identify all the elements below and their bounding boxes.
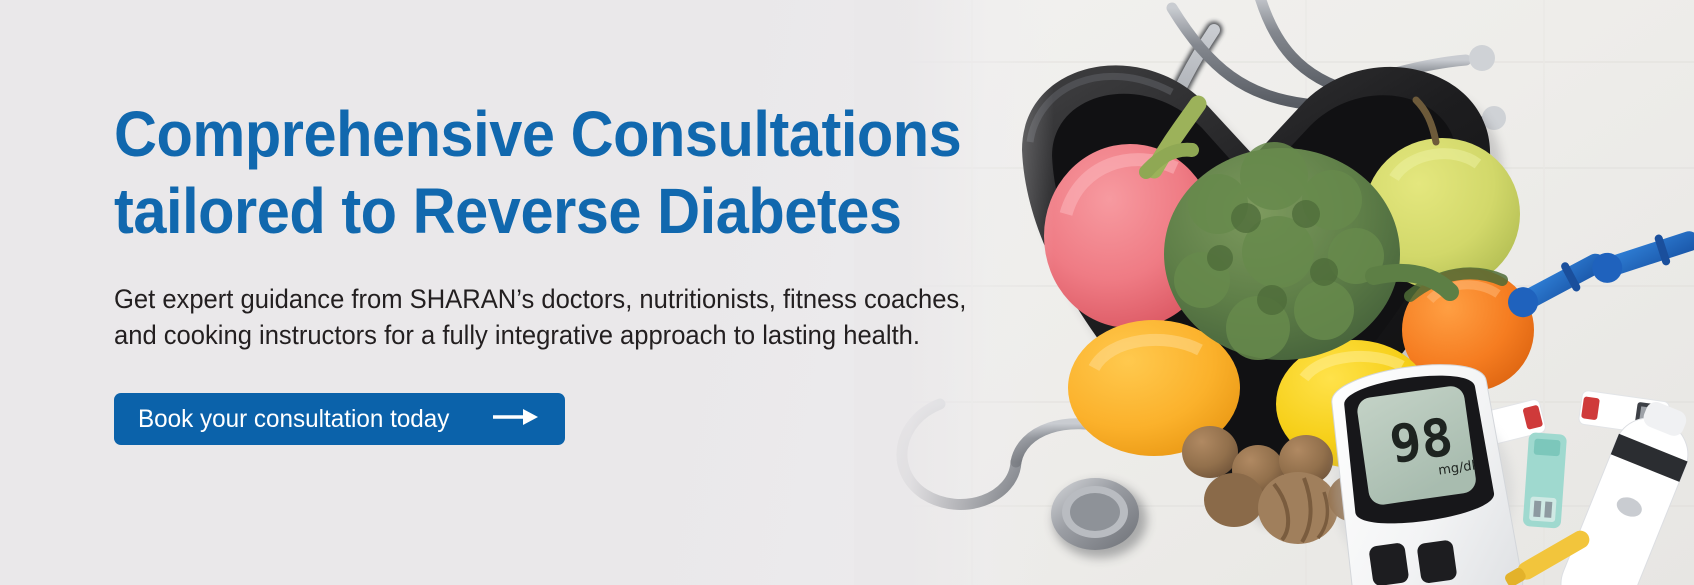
hero-banner: 98 mg/dl bbox=[0, 0, 1694, 585]
headline-line-2: tailored to Reverse Diabetes bbox=[114, 173, 979, 250]
hero-content: Comprehensive Consultations tailored to … bbox=[114, 96, 1044, 445]
subcopy-line-2: and cooking instructors for a fully inte… bbox=[114, 317, 1011, 354]
headline-line-1: Comprehensive Consultations bbox=[114, 98, 961, 170]
subcopy-line-1: Get expert guidance from SHARAN’s doctor… bbox=[114, 281, 1011, 318]
teal-strip bbox=[1523, 432, 1567, 528]
page-title: Comprehensive Consultations tailored to … bbox=[114, 96, 979, 251]
arrow-right-icon bbox=[493, 408, 539, 431]
walnut bbox=[1258, 472, 1338, 544]
hero-subcopy: Get expert guidance from SHARAN’s doctor… bbox=[114, 281, 1011, 354]
cta-label: Book your consultation today bbox=[138, 407, 449, 432]
book-consultation-button[interactable]: Book your consultation today bbox=[114, 393, 565, 445]
